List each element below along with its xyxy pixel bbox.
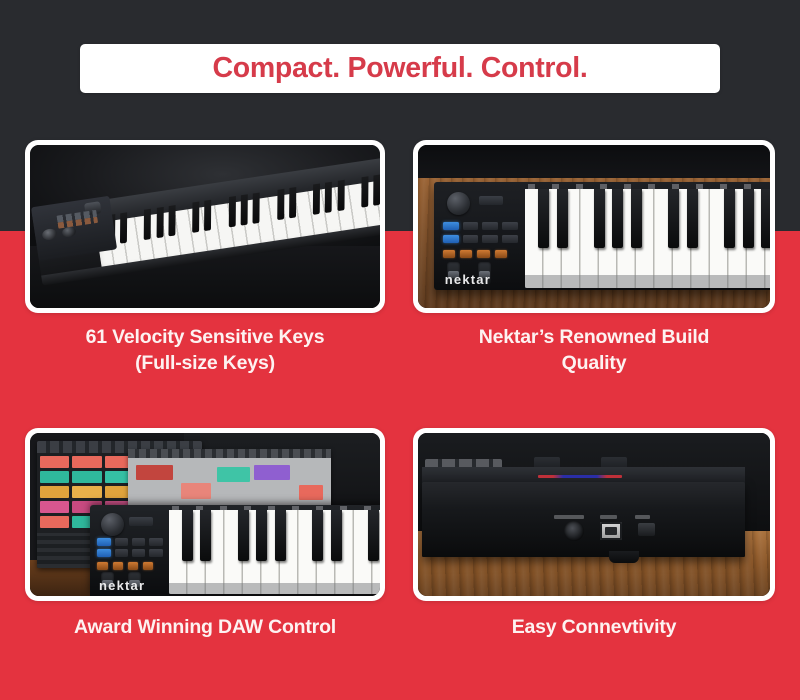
feature-caption-3: Award Winning DAW Control (25, 615, 385, 641)
caption-line-2: (Full-size Keys) (25, 351, 385, 377)
daw-audio-region (299, 485, 323, 500)
transport-button-row-1 (443, 222, 518, 230)
caption-line-2: Quality (413, 351, 775, 377)
daw-clip (72, 486, 101, 498)
photo-frame-4 (413, 428, 775, 601)
daw-clip (40, 501, 69, 513)
feature-caption-2: Nektar’s Renowned Build Quality (413, 325, 775, 377)
transport-button-row-2 (443, 235, 518, 243)
mod-wheel-icon (61, 226, 76, 238)
feature-caption-1: 61 Velocity Sensitive Keys (Full-size Ke… (25, 325, 385, 377)
feature-grid: 61 Velocity Sensitive Keys (Full-size Ke… (0, 0, 800, 700)
caption-line-1: Easy Connevtivity (413, 615, 775, 641)
caption-line-1: Award Winning DAW Control (25, 615, 385, 641)
photo-frame-1 (25, 140, 385, 313)
daw-clip (40, 486, 69, 498)
keyboard-rear-ports-photo (418, 433, 770, 596)
track-button-row (443, 250, 507, 258)
transport-button-row-2 (97, 549, 162, 557)
pitch-wheel-icon (42, 228, 58, 241)
display-icon (479, 196, 503, 205)
brand-logo: nektar (445, 272, 491, 287)
keyboard-topdown-on-wood-photo: nektar (418, 145, 770, 308)
caption-line-1: Nektar’s Renowned Build (413, 325, 775, 351)
daw-audio-region (217, 467, 249, 482)
keyboard-angled-61-keys-photo (30, 145, 380, 308)
photo-frame-2: nektar (413, 140, 775, 313)
daw-clip (40, 516, 69, 528)
daw-clip (40, 471, 69, 483)
feature-cell-2: nektar Nektar’s Renowned Build Quality (413, 140, 775, 377)
feature-cell-3: nektar Award Winning DAW Control (25, 428, 385, 641)
feature-cell-4: Easy Connevtivity (413, 428, 775, 641)
caption-line-1: 61 Velocity Sensitive Keys (25, 325, 385, 351)
encoder-knob-icon (447, 192, 470, 215)
track-button-row (97, 562, 153, 570)
brand-logo: nektar (99, 578, 145, 593)
daw-clip (72, 471, 101, 483)
daw-clip (40, 456, 69, 468)
daw-audio-region (181, 483, 211, 498)
photo-frame-3: nektar (25, 428, 385, 601)
daw-arrange-view (128, 449, 331, 508)
sustain-pedal-jack-icon (564, 521, 584, 541)
daw-audio-region (254, 465, 291, 480)
encoder-knob-icon (101, 513, 124, 536)
feature-cell-1: 61 Velocity Sensitive Keys (Full-size Ke… (25, 140, 385, 377)
power-switch-icon (638, 523, 655, 536)
usb-port-icon (600, 522, 622, 540)
daw-clip (72, 456, 101, 468)
keyboard-with-daw-screen-photo: nektar (30, 433, 380, 596)
daw-audio-region (136, 465, 173, 480)
transport-button-row-1 (97, 538, 162, 546)
display-icon (129, 517, 153, 526)
feature-caption-4: Easy Connevtivity (413, 615, 775, 641)
